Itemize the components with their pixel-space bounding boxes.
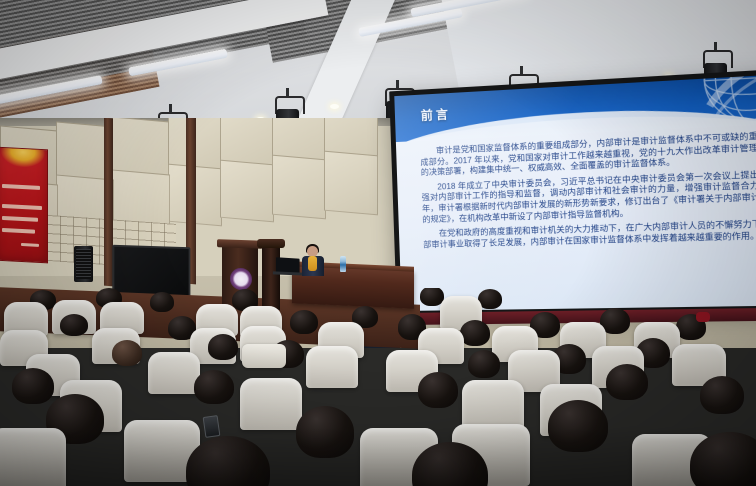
audience-head [60,314,88,336]
presentation-slide: 前言 审计是党和国家监督体系的重要组成部分，内部审计是审计监督体系中不可或缺的重… [394,74,756,311]
smartphone[interactable] [203,415,221,438]
audience-head [700,376,744,414]
audience-head [12,368,54,404]
seat[interactable] [0,428,66,486]
acoustic-panel-wall [0,126,400,276]
seat[interactable] [148,352,200,394]
audience-head [468,350,500,378]
water-bottle [340,256,346,272]
audience-head [548,400,608,452]
red-hair-clip [696,312,710,322]
seat[interactable] [240,378,302,430]
audience-head [150,292,174,312]
university-emblem-icon [230,268,252,291]
seat[interactable] [306,346,358,388]
audience-head [296,406,354,458]
audience-head [606,364,648,400]
gold-sunburst-emblem [1,147,45,169]
seated-presenter [302,246,324,276]
red-banner-poster [0,147,48,264]
downlight-8 [664,74,673,79]
audience-head [290,310,318,334]
audience-head [418,372,458,408]
downlight-3 [330,104,339,109]
slide-body-text: 审计是党和国家监督体系的重要组成部分，内部审计是审计监督体系中不可或缺的重要组成… [420,130,756,254]
audience-head [208,334,238,360]
audience-head [460,320,490,346]
audience-seating-area [0,288,756,486]
slide-paragraph-2: 2018 年成立了中央审计委员会，习近平总书记在中央审计委员会第一次会议上提出要… [421,169,756,226]
slide-title: 前言 [421,105,452,124]
laptop[interactable] [276,257,300,273]
audience-head [112,340,142,366]
audience-head [194,370,234,404]
wall-loudspeaker [74,246,93,282]
auditorium-scene: 前言 审计是党和国家监督体系的重要组成部分，内部审计是审计监督体系中不可或缺的重… [0,0,756,486]
tote-bag [242,344,286,368]
projection-screen[interactable]: 前言 审计是党和国家监督体系的重要组成部分，内部审计是审计监督体系中不可或缺的重… [394,74,756,311]
